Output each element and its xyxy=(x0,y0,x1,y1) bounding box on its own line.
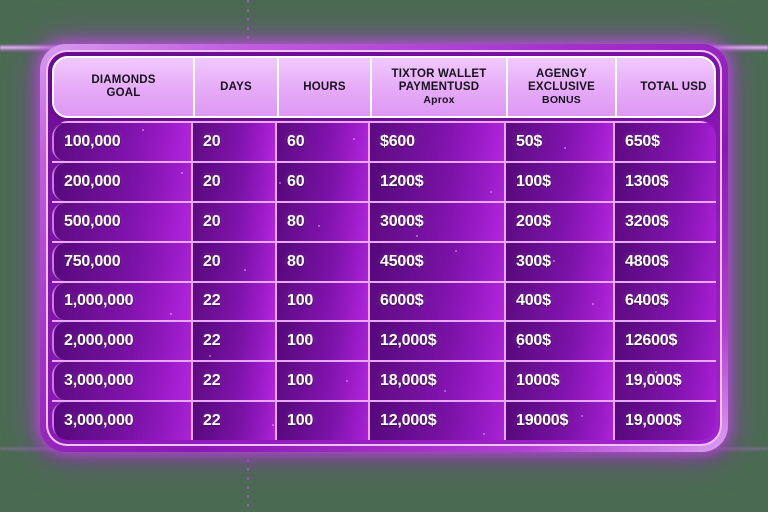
cell-days: 22 xyxy=(193,402,277,440)
table-row[interactable]: 100,0002060$60050$650$ xyxy=(52,121,716,163)
cell-hours: 100 xyxy=(277,402,370,440)
cell-days: 22 xyxy=(193,283,277,321)
table-row[interactable]: 500,00020803000$200$3200$ xyxy=(52,203,716,243)
cell-wallet_payment: 12,000$ xyxy=(370,402,506,440)
table-header-cell-2: HOURS xyxy=(279,58,372,116)
header-line-1: HOURS xyxy=(303,81,346,93)
cell-wallet_payment: 12,000$ xyxy=(370,322,506,360)
table-header-cell-4: AGENGYEXCLUSIVEBONUS xyxy=(508,58,617,116)
table-body: 100,0002060$60050$650$200,00020601200$10… xyxy=(52,121,716,440)
cell-bonus: 200$ xyxy=(506,203,615,241)
header-line-2: GOAL xyxy=(106,87,140,99)
cell-diamonds_goal: 1,000,000 xyxy=(52,283,193,321)
cell-total: 6400$ xyxy=(615,283,716,321)
cell-diamonds_goal: 2,000,000 xyxy=(52,322,193,360)
table-header-cell-3: TIXTOR WALLETPAYMENTUSDAprox xyxy=(372,58,508,116)
cell-diamonds_goal: 100,000 xyxy=(52,123,193,161)
header-line-1: AGENGY xyxy=(536,68,587,80)
cell-diamonds_goal: 3,000,000 xyxy=(52,362,193,400)
header-line-1: TOTAL USD xyxy=(640,81,706,93)
table-header-cell-1: DAYS xyxy=(195,58,279,116)
header-line-2: EXCLUSIVE xyxy=(528,81,595,93)
cell-bonus: 300$ xyxy=(506,243,615,281)
pricing-table-frame: DIAMONDSGOALDAYSHOURSTIXTOR WALLETPAYMEN… xyxy=(40,44,728,452)
cell-diamonds_goal: 500,000 xyxy=(52,203,193,241)
cell-bonus: 100$ xyxy=(506,163,615,201)
table-row[interactable]: 2,000,0002210012,000$600$12600$ xyxy=(52,322,716,362)
cell-bonus: 1000$ xyxy=(506,362,615,400)
table-header-cell-0: DIAMONDSGOAL xyxy=(54,58,195,116)
cell-total: 650$ xyxy=(615,123,716,161)
header-line-1: DIAMONDS xyxy=(91,74,155,86)
cell-days: 20 xyxy=(193,243,277,281)
cell-hours: 80 xyxy=(277,203,370,241)
cell-days: 20 xyxy=(193,163,277,201)
cell-hours: 100 xyxy=(277,322,370,360)
cell-total: 4800$ xyxy=(615,243,716,281)
cell-hours: 100 xyxy=(277,283,370,321)
cell-days: 20 xyxy=(193,203,277,241)
cell-wallet_payment: 6000$ xyxy=(370,283,506,321)
cell-days: 22 xyxy=(193,362,277,400)
header-line-1: TIXTOR WALLET xyxy=(391,68,486,80)
cell-wallet_payment: 18,000$ xyxy=(370,362,506,400)
cell-wallet_payment: 4500$ xyxy=(370,243,506,281)
cell-wallet_payment: 3000$ xyxy=(370,203,506,241)
cell-days: 20 xyxy=(193,123,277,161)
header-line-2: PAYMENTUSD xyxy=(399,81,480,93)
pricing-table: DIAMONDSGOALDAYSHOURSTIXTOR WALLETPAYMEN… xyxy=(46,50,722,446)
cell-wallet_payment: $600 xyxy=(370,123,506,161)
table-row[interactable]: 200,00020601200$100$1300$ xyxy=(52,163,716,203)
table-row[interactable]: 1,000,000221006000$400$6400$ xyxy=(52,283,716,323)
cell-total: 19,000$ xyxy=(615,362,716,400)
cell-bonus: 400$ xyxy=(506,283,615,321)
cell-diamonds_goal: 200,000 xyxy=(52,163,193,201)
cell-hours: 100 xyxy=(277,362,370,400)
cell-total: 12600$ xyxy=(615,322,716,360)
header-line-3: Aprox xyxy=(391,94,486,107)
cell-bonus: 19000$ xyxy=(506,402,615,440)
table-row[interactable]: 3,000,0002210018,000$1000$19,000$ xyxy=(52,362,716,402)
cell-diamonds_goal: 3,000,000 xyxy=(52,402,193,440)
table-row[interactable]: 3,000,0002210012,000$19000$19,000$ xyxy=(52,402,716,440)
cell-total: 19,000$ xyxy=(615,402,716,440)
cell-bonus: 50$ xyxy=(506,123,615,161)
cell-wallet_payment: 1200$ xyxy=(370,163,506,201)
cell-total: 3200$ xyxy=(615,203,716,241)
cell-total: 1300$ xyxy=(615,163,716,201)
table-row[interactable]: 750,00020804500$300$4800$ xyxy=(52,243,716,283)
table-header-cell-5: TOTAL USD xyxy=(617,58,716,116)
cell-days: 22 xyxy=(193,322,277,360)
header-line-1: DAYS xyxy=(220,81,252,93)
cell-bonus: 600$ xyxy=(506,322,615,360)
table-header-row: DIAMONDSGOALDAYSHOURSTIXTOR WALLETPAYMEN… xyxy=(52,56,716,118)
cell-hours: 80 xyxy=(277,243,370,281)
cell-diamonds_goal: 750,000 xyxy=(52,243,193,281)
cell-hours: 60 xyxy=(277,123,370,161)
cell-hours: 60 xyxy=(277,163,370,201)
header-line-3: BONUS xyxy=(528,94,595,107)
